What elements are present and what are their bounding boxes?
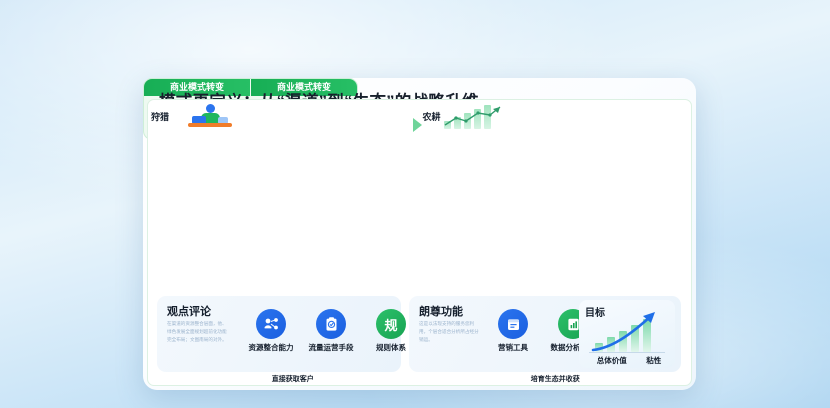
- features-paragraph: 这是以法现支持的服务您利用，个层合适合分析所占经分销运。: [419, 320, 479, 344]
- network-users-icon: [256, 309, 286, 339]
- label-hunting: 狩猎: [151, 110, 169, 123]
- features-title: 朗尊功能: [419, 303, 463, 319]
- commentary-label-traffic: 流量运营手段: [305, 342, 357, 353]
- commentary-item-resource: 资源整合能力: [245, 309, 297, 353]
- shift-half-hunting: 狩猎 直接获取客户: [148, 100, 358, 140]
- rule-icon: 规: [376, 309, 406, 339]
- goal-label-stickiness: 粘性: [646, 355, 661, 366]
- shift-body: 狩猎 直接获取客户 农耕: [147, 99, 358, 140]
- goal-chart: 目标 总体价值 粘性: [579, 300, 675, 368]
- commentary-label-resource: 资源整合能力: [245, 342, 297, 353]
- goal-label-value: 总体价值: [597, 355, 627, 366]
- main-card: 模式再定义：从“渠道”到“生态”的战略升维 传统单商户模块 多中心 中心化: [143, 78, 696, 390]
- feature-item-marketing: 营销工具: [487, 309, 539, 353]
- commentary-paragraph: 在渠道的资源整合层面，他、绿色发展全面规划超前化功能完全布局；文图南局的对外。: [167, 320, 227, 344]
- commentary-item-traffic: 流量运营手段: [305, 309, 357, 353]
- features-section: 朗尊功能 这是以法现支持的服务您利用，个层合适合分析所占经分销运。 营销工具: [409, 296, 681, 372]
- commentary-title: 观点评论: [167, 303, 211, 319]
- goal-axis: [589, 352, 665, 353]
- goal-axis-labels: 总体价值 粘性: [587, 355, 671, 366]
- goal-trend-arrow: [589, 310, 667, 354]
- clipboard-check-icon: [316, 309, 346, 339]
- commentary-icon-group: 资源整合能力 流量运营手段 规 规则体系: [245, 309, 417, 353]
- calendar-icon: [498, 309, 528, 339]
- hunting-illustration: [180, 104, 238, 128]
- feature-label-marketing: 营销工具: [487, 342, 539, 353]
- commentary-section: 观点评论 在渠道的资源整合层面，他、绿色发展全面规划超前化功能完全布局；文图南局…: [157, 296, 401, 372]
